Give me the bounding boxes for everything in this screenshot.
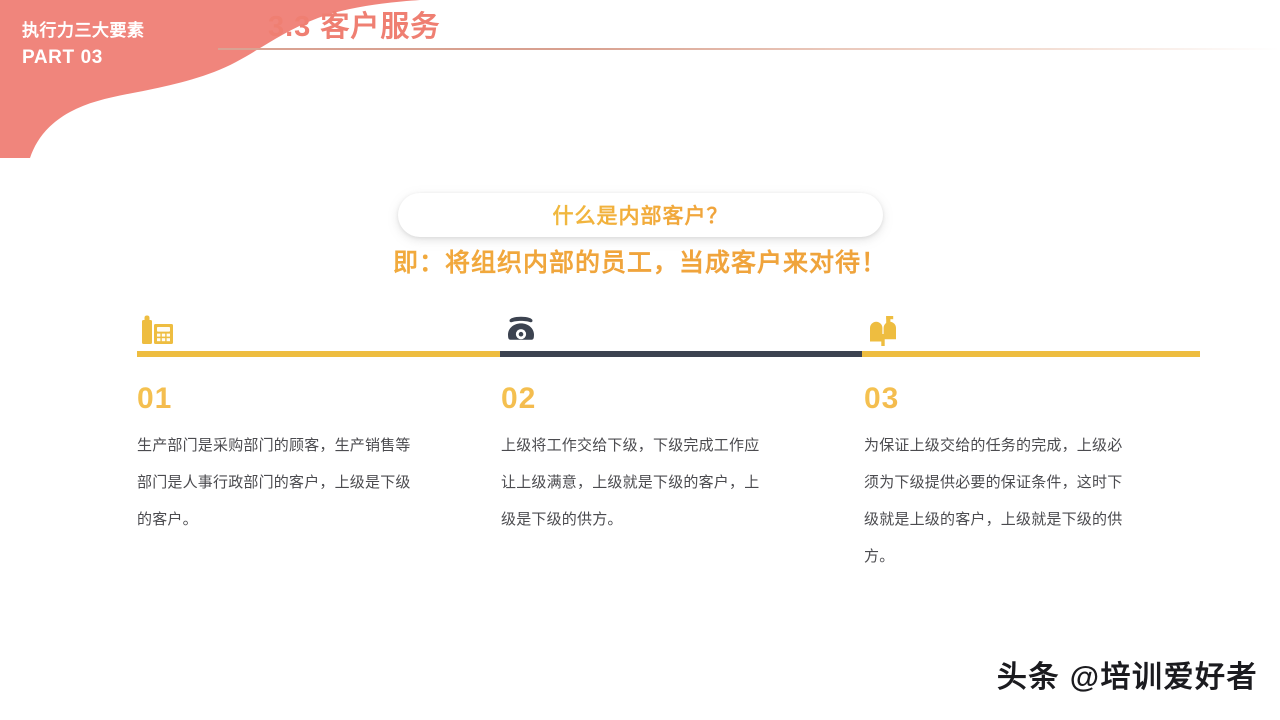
question-pill-label: 什么是内部客户？: [553, 200, 729, 230]
page-title: 3.3 客户服务: [268, 5, 440, 49]
question-pill: 什么是内部客户？: [398, 193, 883, 237]
desk-phone-icon: [137, 306, 467, 350]
column-01: 01 生产部门是采购部门的顾客，生产销售等部门是人事行政部门的客户，上级是下级的…: [137, 306, 467, 538]
header-part-label: PART 03: [22, 44, 252, 72]
slide-canvas: 执行力三大要素 PART 03 3.3 客户服务 什么是内部客户？ 即：将组织内…: [0, 0, 1280, 720]
column-03: 03 为保证上级交给的任务的完成，上级必须为下级提供必要的保证条件，这时下级就是…: [864, 306, 1194, 575]
watermark: 头条 @培训爱好者: [997, 658, 1258, 698]
header-kicker: 执行力三大要素: [22, 18, 252, 44]
column-number: 01: [137, 382, 467, 416]
header-left-labels: 执行力三大要素 PART 03: [22, 18, 252, 72]
column-body-text: 为保证上级交给的任务的完成，上级必须为下级提供必要的保证条件，这时下级就是上级的…: [864, 427, 1129, 575]
mailbox-icon: [864, 306, 1194, 350]
column-body-text: 上级将工作交给下级，下级完成工作应让上级满意，上级就是下级的客户，上级是下级的供…: [501, 427, 766, 538]
column-body-text: 生产部门是采购部门的顾客，生产销售等部门是人事行政部门的客户，上级是下级的客户。: [137, 427, 415, 538]
column-number: 02: [501, 382, 831, 416]
headline-subtext: 即：将组织内部的员工，当成客户来对待！: [0, 245, 1280, 281]
column-02: 02 上级将工作交给下级，下级完成工作应让上级满意，上级就是下级的客户，上级是下…: [501, 306, 831, 538]
column-number: 03: [864, 382, 1194, 416]
rotary-telephone-icon: [501, 306, 831, 350]
